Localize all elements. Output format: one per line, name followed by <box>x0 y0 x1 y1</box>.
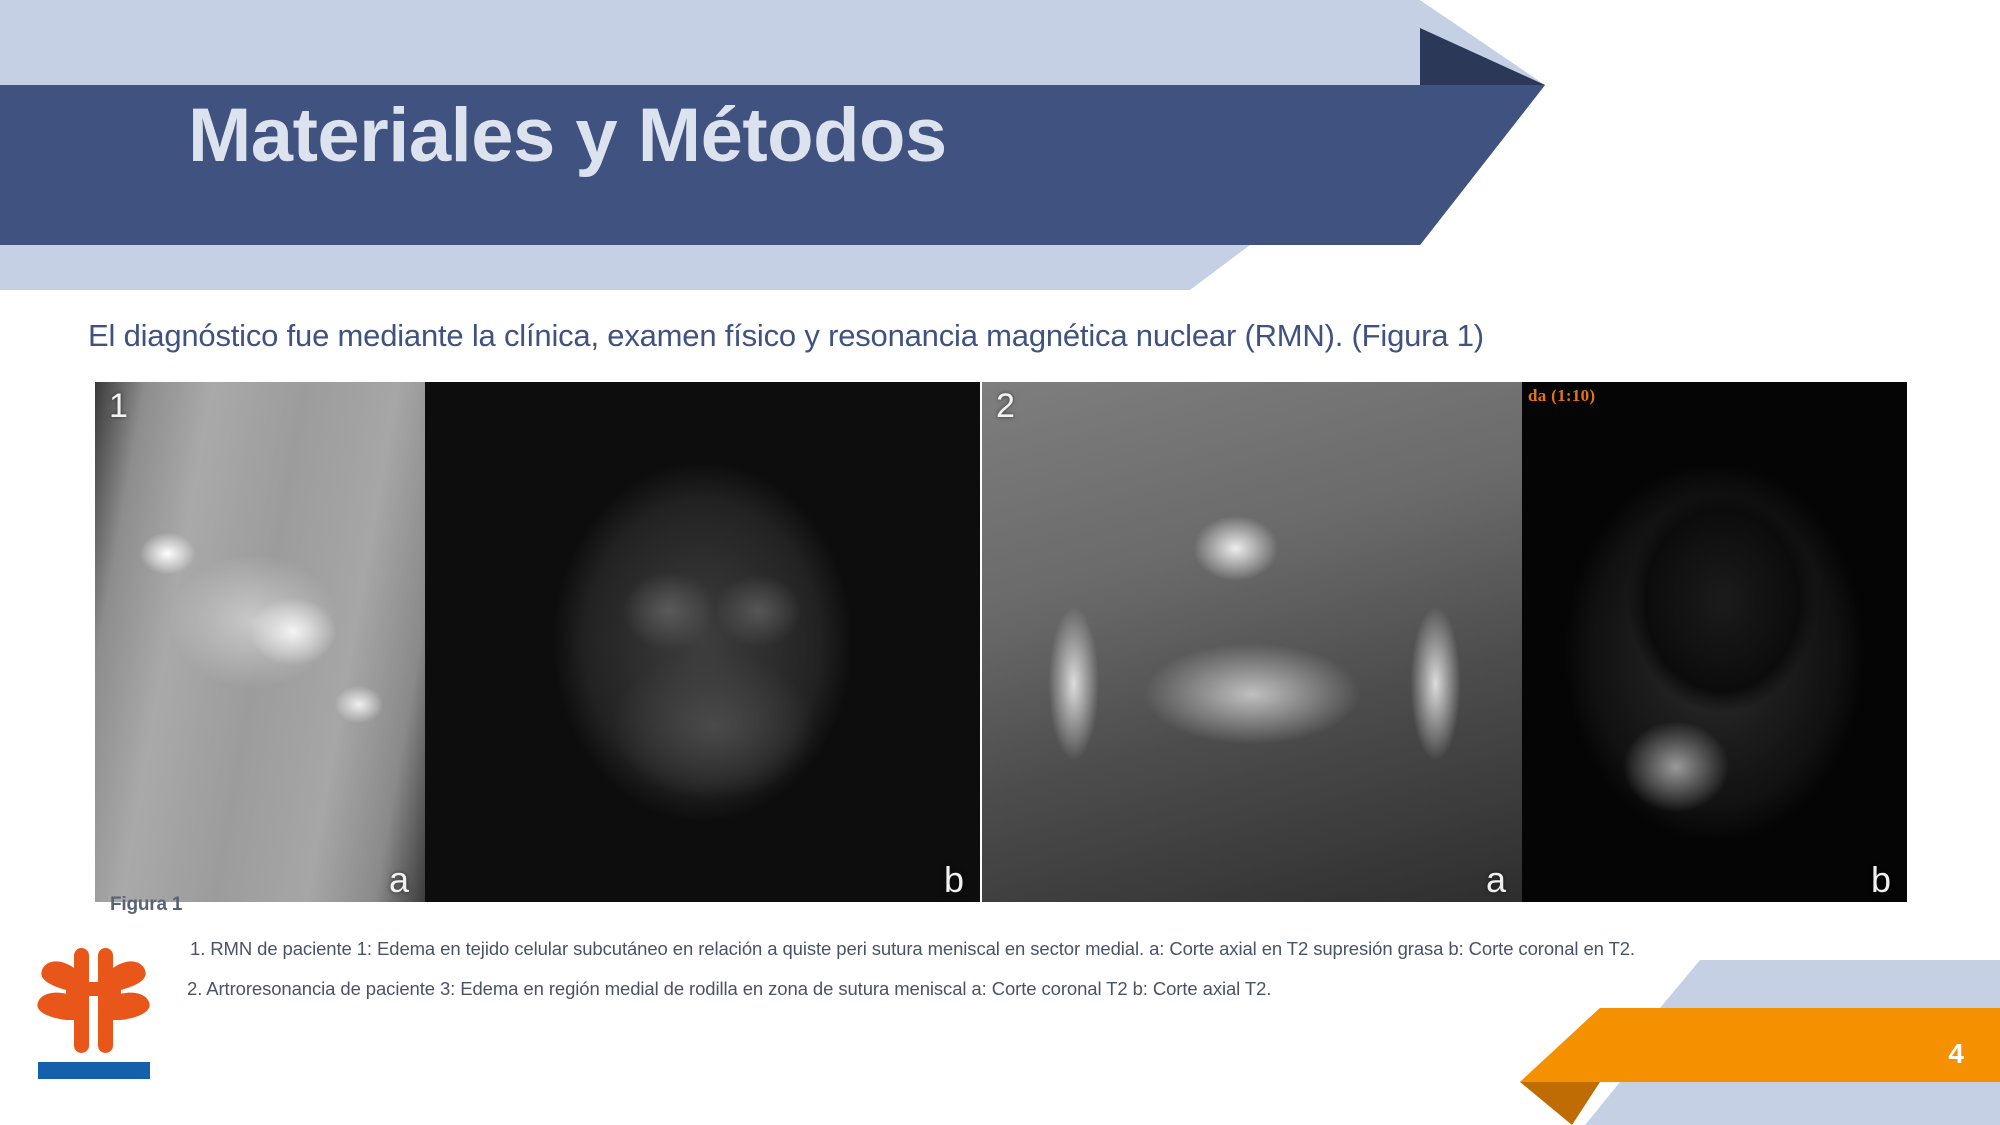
footer-chevron-point <box>1520 1008 1660 1082</box>
slide-subtitle: El diagnóstico fue mediante la clínica, … <box>88 318 1484 354</box>
mri-image-1a[interactable]: 1 a <box>95 382 425 902</box>
figure-caption-label: Figura 1 <box>110 894 182 916</box>
panel-sublabel-1b: b <box>944 860 964 900</box>
panel-sublabel-2b: b <box>1871 860 1891 900</box>
patient-2-image-group: 2 a da (1:10) b <box>982 382 1907 902</box>
figure-caption-2: 2. Artroresonancia de paciente 3: Edema … <box>187 978 1271 1000</box>
header-light-band-bottom <box>0 245 1250 290</box>
page-title: Materiales y Métodos <box>188 98 947 174</box>
figure-caption-1: 1. RMN de paciente 1: Edema en tejido ce… <box>190 938 1635 960</box>
logo-hands-mark <box>37 948 149 1053</box>
figure-image-strip: 1 a b 2 a da (1:10) b <box>95 382 1905 902</box>
mri-image-2a[interactable]: 2 a <box>982 382 1522 902</box>
footer-light-band-bottom <box>1585 1082 2000 1125</box>
header-light-band-top <box>0 0 1545 85</box>
header-chevron-point <box>1380 85 1545 245</box>
mri-image-2b[interactable]: da (1:10) b <box>1522 382 1907 902</box>
patient-1-image-group: 1 a b <box>95 382 980 902</box>
panel-number-1: 1 <box>109 388 128 425</box>
footer-main-chevron <box>1520 1008 2000 1082</box>
panel-sublabel-1a: a <box>389 860 409 900</box>
page-number: 4 <box>1948 1040 1964 1068</box>
panel-sublabel-2a: a <box>1486 860 1506 900</box>
scan-annotation-text: da (1:10) <box>1528 386 1595 406</box>
footer-light-band-top <box>1660 960 2000 1008</box>
header-shadow-notch <box>1420 28 1545 85</box>
panel-number-2: 2 <box>996 388 1015 425</box>
footer-shadow-notch <box>1520 1082 1600 1125</box>
mri-image-1b[interactable]: b <box>425 382 980 902</box>
organization-logo <box>30 938 160 1083</box>
logo-blue-bar <box>38 1062 150 1079</box>
